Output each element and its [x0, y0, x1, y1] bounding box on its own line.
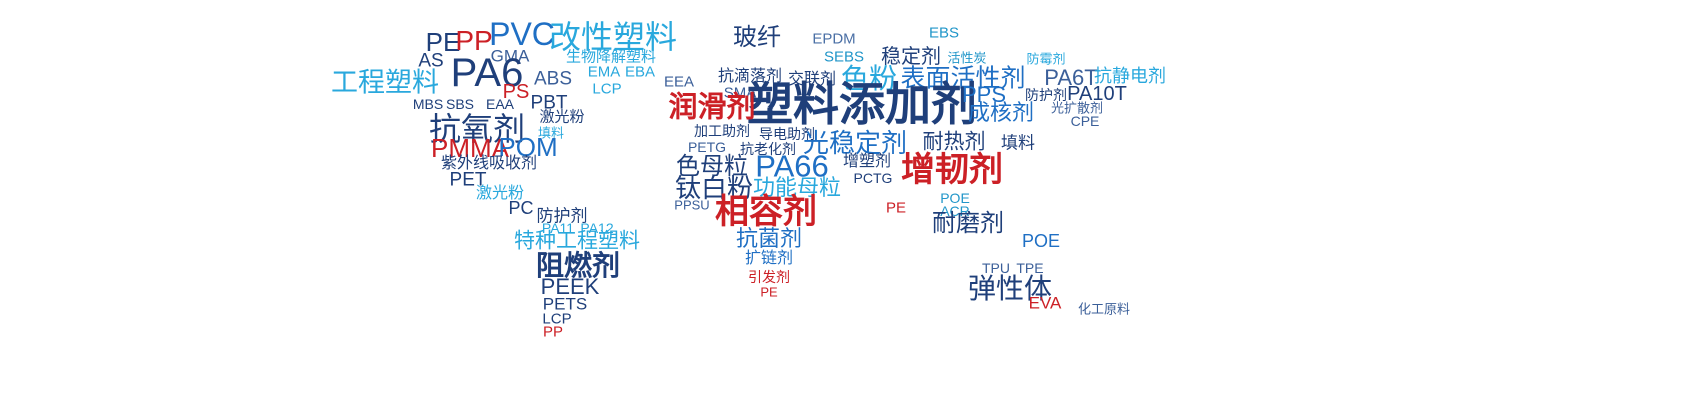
cloud-word[interactable]: 防霉剂	[1026, 53, 1065, 66]
cloud-word[interactable]: PE	[886, 201, 906, 216]
cloud-word[interactable]: 塑料添加剂	[747, 81, 977, 127]
cloud-word[interactable]: 工程塑料	[331, 70, 439, 97]
cloud-word[interactable]: 玻纤	[733, 26, 781, 50]
cloud-word[interactable]: 特种工程塑料	[514, 231, 640, 252]
word-cloud-canvas: PEPPPVCGMA改性塑料玻纤EPDMEBSAS生物降解塑料SEBS稳定剂活性…	[0, 0, 1707, 400]
cloud-word[interactable]: 化工原料	[1078, 303, 1130, 316]
cloud-word[interactable]: EBS	[929, 26, 959, 41]
cloud-word[interactable]: POE	[1022, 232, 1060, 250]
cloud-word[interactable]: LCP	[592, 82, 621, 97]
cloud-word[interactable]: 加工助剂	[694, 124, 750, 138]
cloud-word[interactable]: ABS	[534, 70, 572, 89]
cloud-word[interactable]: PCTG	[854, 171, 893, 185]
cloud-word[interactable]: 扩链剂	[745, 251, 793, 267]
cloud-word[interactable]: 润滑剂	[668, 94, 755, 123]
cloud-word[interactable]: PP	[543, 325, 563, 340]
cloud-word[interactable]: 增塑剂	[843, 154, 891, 170]
cloud-word[interactable]: 耐磨剂	[932, 212, 1004, 236]
cloud-word[interactable]: 激光粉	[539, 110, 584, 125]
cloud-word[interactable]: EPDM	[812, 32, 855, 47]
cloud-word[interactable]: 生物降解塑料	[566, 50, 656, 65]
cloud-word[interactable]: EMA	[588, 65, 621, 80]
cloud-word[interactable]: 活性炭	[947, 52, 986, 65]
cloud-word[interactable]: EAA	[486, 97, 514, 111]
cloud-word[interactable]: PPSU	[674, 199, 709, 212]
cloud-word[interactable]: EBA	[625, 65, 655, 80]
cloud-word[interactable]: 抗菌剂	[736, 228, 802, 250]
cloud-word[interactable]: PETG	[688, 140, 726, 154]
cloud-word[interactable]: EVA	[1029, 295, 1062, 312]
cloud-word[interactable]: MBS	[413, 97, 443, 111]
cloud-word[interactable]: PVC	[489, 18, 555, 50]
cloud-word[interactable]: CPE	[1071, 114, 1100, 128]
cloud-word[interactable]: EEA	[664, 75, 694, 90]
cloud-word[interactable]: 引发剂	[748, 270, 790, 284]
cloud-word[interactable]: 增韧剂	[901, 153, 1003, 187]
cloud-word[interactable]: PE	[760, 286, 777, 299]
cloud-word[interactable]: 相容剂	[715, 195, 817, 229]
cloud-word[interactable]: 填料	[1001, 135, 1035, 152]
cloud-word[interactable]: 成核剂	[968, 102, 1034, 124]
cloud-word[interactable]: SBS	[446, 97, 474, 111]
cloud-word[interactable]: PC	[508, 199, 533, 217]
cloud-word[interactable]: 耐热剂	[923, 132, 986, 153]
